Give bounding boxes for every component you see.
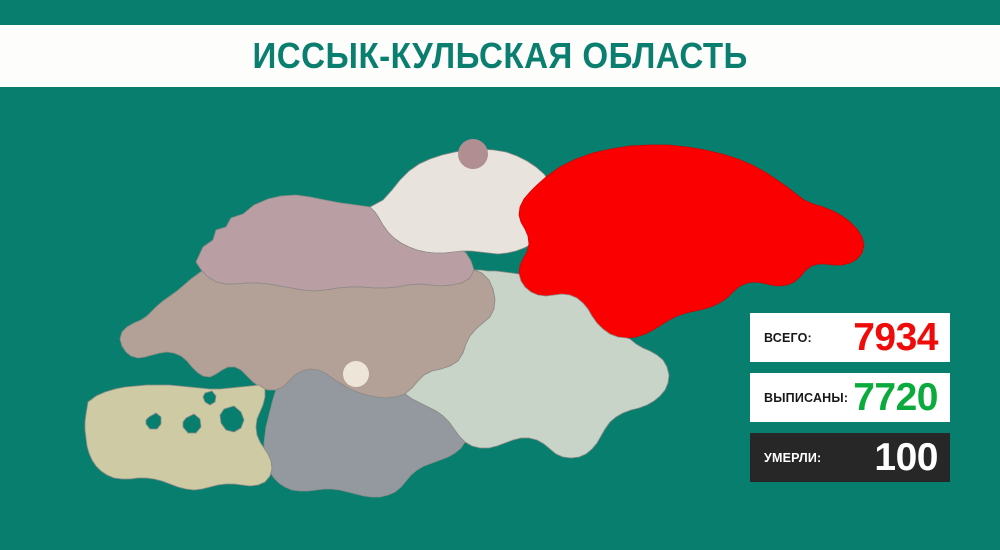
map-region-batken[interactable] [85, 385, 272, 490]
infographic-root: ИССЫК-КУЛЬСКАЯ ОБЛАСТЬ [0, 0, 1000, 550]
stat-value-deaths: 100 [874, 438, 938, 477]
stat-row-recovered: ВЫПИСАНЫ: 7720 [750, 373, 950, 422]
stat-row-total: ВСЕГО: 7934 [750, 313, 950, 362]
stat-label-recovered: ВЫПИСАНЫ: [764, 391, 848, 405]
city-dot-bishkek[interactable] [458, 139, 488, 169]
stat-value-recovered: 7720 [853, 378, 938, 417]
stats-panel: ВСЕГО: 7934 ВЫПИСАНЫ: 7720 УМЕРЛИ: 100 [750, 313, 950, 482]
city-dot-osh[interactable] [343, 361, 369, 387]
top-teal-bar [0, 0, 1000, 25]
map-stage: ВСЕГО: 7934 ВЫПИСАНЫ: 7720 УМЕРЛИ: 100 [0, 87, 1000, 550]
title-band: ИССЫК-КУЛЬСКАЯ ОБЛАСТЬ [0, 25, 1000, 87]
stat-label-total: ВСЕГО: [764, 331, 812, 345]
page-title: ИССЫК-КУЛЬСКАЯ ОБЛАСТЬ [252, 35, 747, 77]
stat-label-deaths: УМЕРЛИ: [764, 451, 821, 465]
stat-row-deaths: УМЕРЛИ: 100 [750, 433, 950, 482]
stat-value-total: 7934 [853, 318, 938, 357]
